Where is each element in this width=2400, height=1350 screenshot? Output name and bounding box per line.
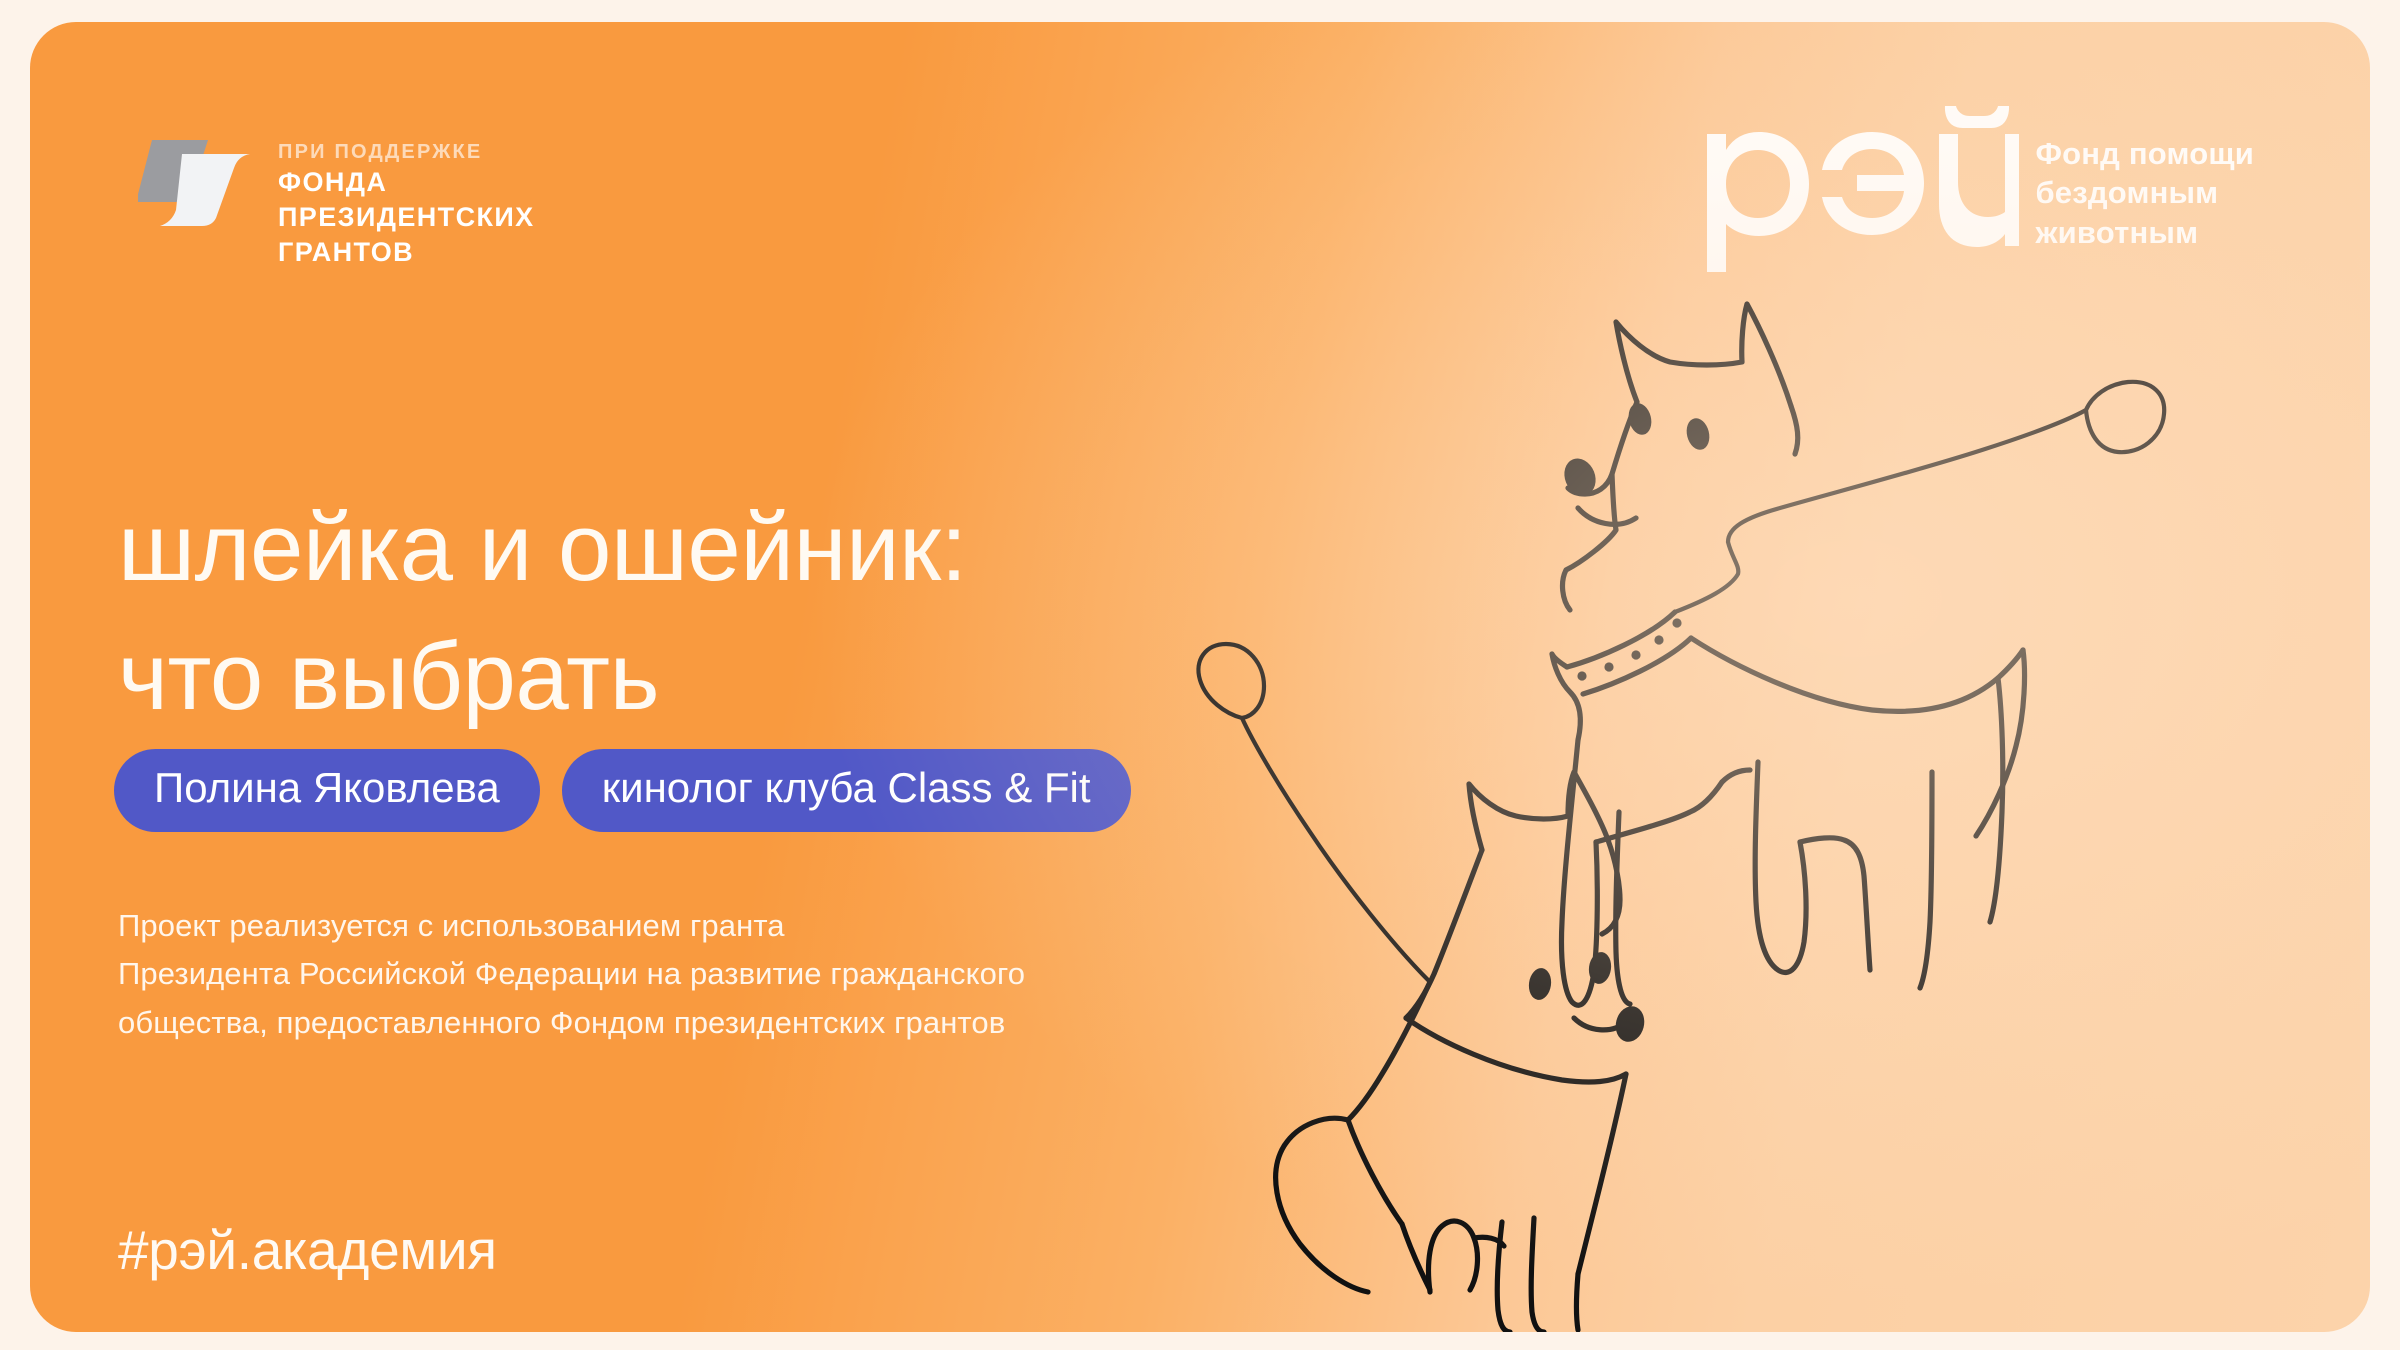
dog-harness-eyes xyxy=(1527,951,1613,1002)
rey-tagline: Фонд помощи бездомным животным xyxy=(2035,106,2254,252)
rey-foundation-logo: Фонд помощи бездомным животным xyxy=(1701,106,2254,274)
grant-name-line-3: ГРАНТОВ xyxy=(278,235,535,270)
hashtag-label: #рэй.академия xyxy=(118,1218,497,1282)
dog-collar-nose xyxy=(1559,454,1601,500)
dog-collar-eyes xyxy=(1625,401,1712,452)
dog-with-harness xyxy=(1198,644,1647,1332)
page-title: шлейка и ошейник: что выбрать xyxy=(118,484,967,741)
poster-card: ПРИ ПОДДЕРЖКЕ ФОНДА ПРЕЗИДЕНТСКИХ ГРАНТО… xyxy=(30,22,2370,1332)
rey-tagline-line-3: животным xyxy=(2035,213,2254,252)
poster-canvas: ПРИ ПОДДЕРЖКЕ ФОНДА ПРЕЗИДЕНТСКИХ ГРАНТО… xyxy=(0,0,2400,1350)
speaker-name-badge[interactable]: Полина Яковлева xyxy=(114,749,540,832)
dog-harness-nose xyxy=(1612,1003,1648,1045)
dog-with-collar xyxy=(1552,304,2164,1005)
presidential-grants-text: ПРИ ПОДДЕРЖКЕ ФОНДА ПРЕЗИДЕНТСКИХ ГРАНТО… xyxy=(278,126,535,270)
rey-tagline-line-1: Фонд помощи xyxy=(2035,134,2254,173)
speaker-role-badge[interactable]: кинолог клуба Class & Fit xyxy=(562,749,1131,832)
collar-studs xyxy=(1577,618,1681,680)
rey-tagline-line-2: бездомным xyxy=(2035,173,2254,212)
grant-support-label: ПРИ ПОДДЕРЖКЕ xyxy=(278,140,535,165)
grant-name-line-2: ПРЕЗИДЕНТСКИХ xyxy=(278,200,535,235)
speaker-badges: Полина Яковлева кинолог клуба Class & Fi… xyxy=(114,749,1131,832)
rey-wordmark xyxy=(1701,106,2019,274)
grant-name-line-1: ФОНДА xyxy=(278,165,535,200)
grant-disclaimer: Проект реализуется с использованием гран… xyxy=(118,902,1025,1047)
presidential-grants-flag-mark xyxy=(138,126,256,230)
presidential-grants-logo: ПРИ ПОДДЕРЖКЕ ФОНДА ПРЕЗИДЕНТСКИХ ГРАНТО… xyxy=(138,126,535,270)
